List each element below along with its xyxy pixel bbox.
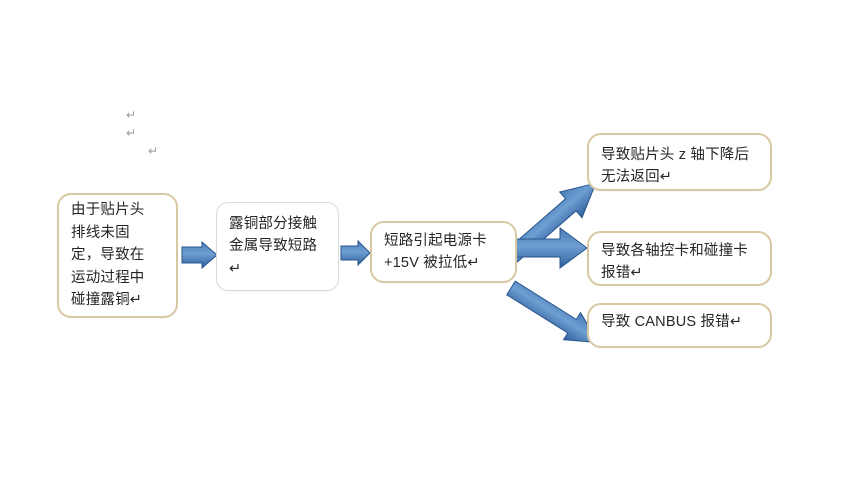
node-effect-canbus[interactable]: 导致 CANBUS 报错↵ [587, 303, 772, 348]
stray-pilcrow-mark-2: ↵ [126, 126, 136, 140]
connector-power-to-axis-cards [512, 228, 588, 268]
stray-pilcrow-mark-1: ↵ [126, 108, 136, 122]
node-effect-z-axis-label: 导致贴片头 z 轴下降后 无法返回↵ [601, 144, 758, 189]
node-effect-canbus-label: 导致 CANBUS 报错↵ [601, 311, 758, 333]
node-contact[interactable]: 露铜部分接触 金属导致短路↵ [216, 202, 339, 291]
node-power-label: 短路引起电源卡 +15V 被拉低↵ [384, 230, 503, 275]
node-cause-label: 由于贴片头 排线未固 定，导致在 运动过程中 碰撞露铜↵ [71, 199, 164, 311]
connector-cause-to-contact [182, 242, 218, 268]
node-effect-z-axis[interactable]: 导致贴片头 z 轴下降后 无法返回↵ [587, 133, 772, 191]
flowchart-canvas: ↵ ↵ ↵ [0, 0, 864, 481]
node-contact-label: 露铜部分接触 金属导致短路↵ [229, 213, 326, 280]
node-cause[interactable]: 由于贴片头 排线未固 定，导致在 运动过程中 碰撞露铜↵ [57, 193, 178, 318]
connector-contact-to-power [341, 241, 371, 265]
node-effect-axis-cards-label: 导致各轴控卡和碰撞卡 报错↵ [601, 240, 758, 285]
node-power[interactable]: 短路引起电源卡 +15V 被拉低↵ [370, 221, 517, 283]
stray-pilcrow-mark-3: ↵ [148, 144, 158, 158]
node-effect-axis-cards[interactable]: 导致各轴控卡和碰撞卡 报错↵ [587, 231, 772, 286]
